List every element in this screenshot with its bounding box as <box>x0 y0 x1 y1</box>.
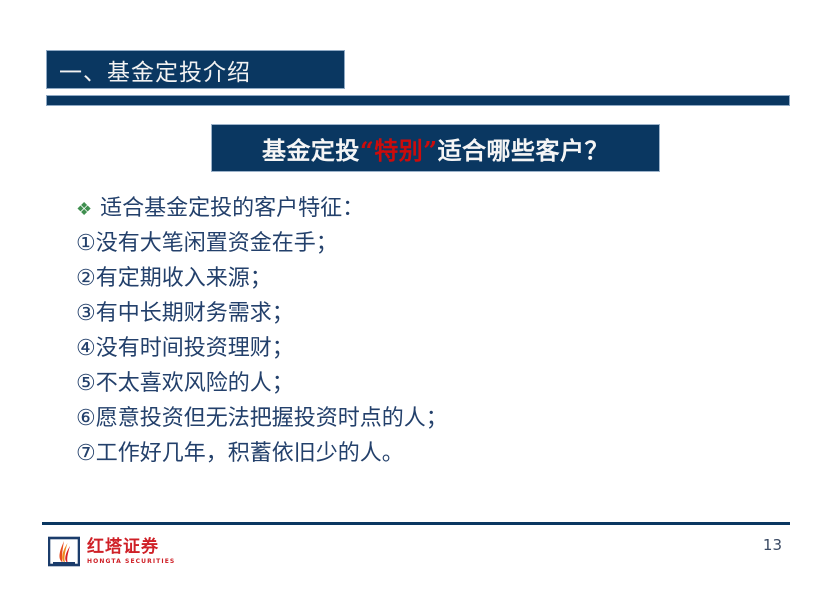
list-item: ③ 有中长期财务需求； <box>76 295 776 330</box>
list-item-lead: ❖ 适合基金定投的客户特征： <box>76 190 776 225</box>
list-item-label: 有中长期财务需求； <box>96 295 294 327</box>
question-banner: 基金定投“特别”适合哪些客户？ <box>211 124 660 172</box>
slide-canvas: 一、基金定投介绍 基金定投“特别”适合哪些客户？ ❖ 适合基金定投的客户特征： … <box>0 0 830 590</box>
logo-text-block: 红塔证券 HONGTA SECURITIES <box>87 539 175 565</box>
question-prefix: 基金定投 <box>262 136 360 165</box>
list-item-marker: ③ <box>76 301 96 326</box>
list-item-label: 没有大笔闲置资金在手； <box>96 225 338 257</box>
list-item-lead-label: 适合基金定投的客户特征： <box>100 190 364 222</box>
list-item-marker: ⑤ <box>76 371 96 396</box>
page-number: 13 <box>763 536 782 554</box>
list-item: ④ 没有时间投资理财； <box>76 330 776 365</box>
list-item: ⑥ 愿意投资但无法把握投资时点的人； <box>76 400 776 435</box>
footer-divider-rule <box>42 522 790 525</box>
hongta-flame-icon <box>48 536 80 568</box>
list-item-marker: ⑦ <box>76 441 96 466</box>
list-item-label: 不太喜欢风险的人； <box>96 365 294 397</box>
diamond-bullet-icon: ❖ <box>76 201 92 219</box>
logo-name-en: HONGTA SECURITIES <box>87 558 175 565</box>
list-item-label: 工作好几年，积蓄依旧少的人。 <box>96 435 404 467</box>
question-quote-close: ” <box>423 136 437 165</box>
question-highlight: 特别 <box>374 136 423 165</box>
list-item: ② 有定期收入来源； <box>76 260 776 295</box>
section-title-banner: 一、基金定投介绍 <box>46 50 345 89</box>
list-item-label: 有定期收入来源； <box>96 260 272 292</box>
title-divider-rule <box>46 95 790 106</box>
question-quote-open: “ <box>360 136 374 165</box>
question-suffix: 适合哪些客户？ <box>438 136 610 165</box>
customer-traits-list: ❖ 适合基金定投的客户特征： ① 没有大笔闲置资金在手； ② 有定期收入来源； … <box>76 190 776 470</box>
logo-name-cn: 红塔证券 <box>87 539 175 557</box>
list-item-marker: ① <box>76 231 96 256</box>
question-banner-text: 基金定投“特别”适合哪些客户？ <box>262 131 609 166</box>
list-item-label: 没有时间投资理财； <box>96 330 294 362</box>
list-item: ⑦ 工作好几年，积蓄依旧少的人。 <box>76 435 776 470</box>
list-item-label: 愿意投资但无法把握投资时点的人； <box>96 400 448 432</box>
company-logo: 红塔证券 HONGTA SECURITIES <box>48 536 175 568</box>
list-item: ① 没有大笔闲置资金在手； <box>76 225 776 260</box>
list-item: ⑤ 不太喜欢风险的人； <box>76 365 776 400</box>
section-title-text: 一、基金定投介绍 <box>47 53 251 87</box>
list-item-marker: ④ <box>76 336 96 361</box>
list-item-marker: ⑥ <box>76 406 96 431</box>
list-item-marker: ② <box>76 266 96 291</box>
